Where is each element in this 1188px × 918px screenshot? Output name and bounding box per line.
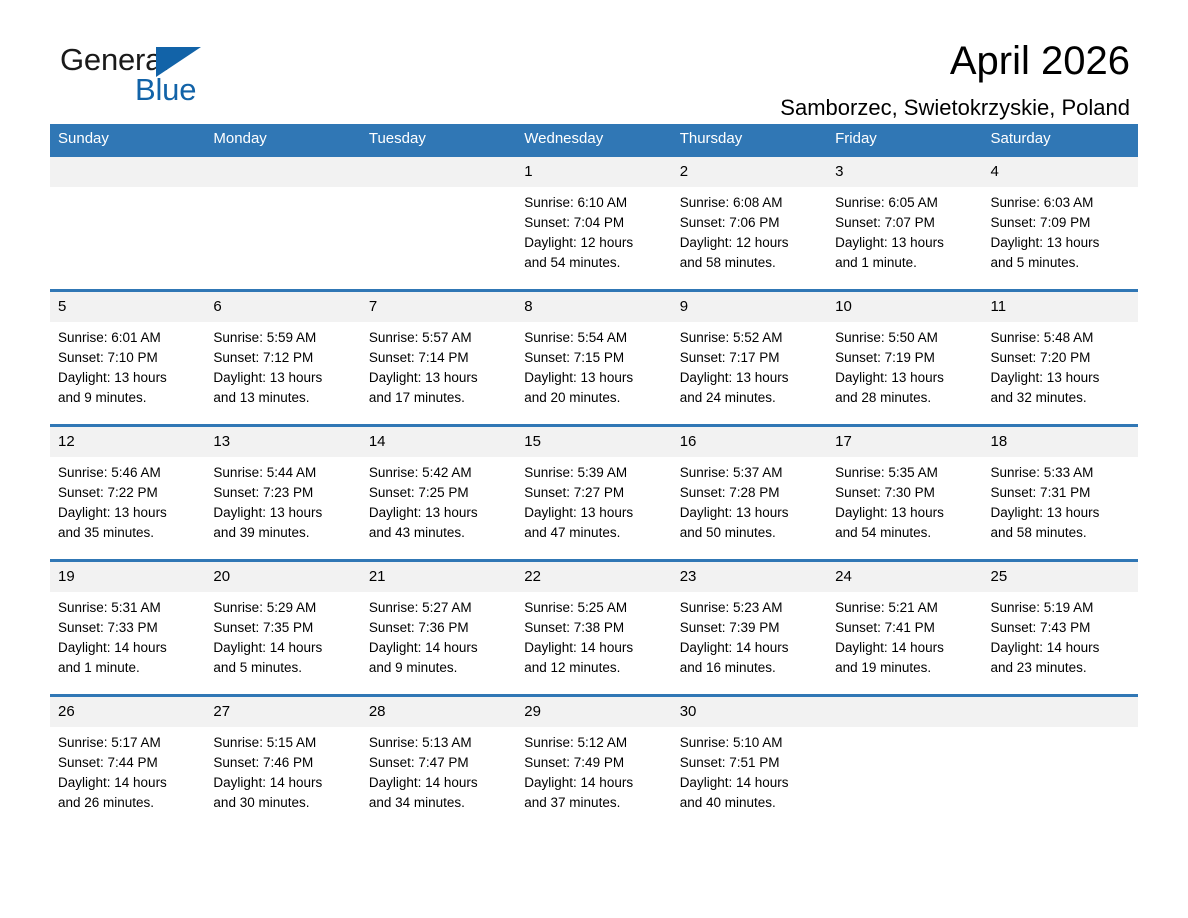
day-number: 24 (827, 562, 982, 592)
day-number: 7 (361, 292, 516, 322)
day-details: Sunrise: 5:59 AMSunset: 7:12 PMDaylight:… (205, 322, 360, 408)
day-number (361, 157, 516, 187)
day-number: 27 (205, 697, 360, 727)
daylight-text-line1: Daylight: 13 hours (58, 503, 197, 523)
calendar-day-cell[interactable]: 6Sunrise: 5:59 AMSunset: 7:12 PMDaylight… (205, 291, 360, 426)
daylight-text-line2: and 37 minutes. (524, 793, 663, 813)
day-number: 15 (516, 427, 671, 457)
sunrise-text: Sunrise: 6:01 AM (58, 328, 197, 348)
day-number: 20 (205, 562, 360, 592)
day-details: Sunrise: 5:27 AMSunset: 7:36 PMDaylight:… (361, 592, 516, 678)
daylight-text-line2: and 58 minutes. (680, 253, 819, 273)
day-number: 4 (983, 157, 1138, 187)
day-number: 5 (50, 292, 205, 322)
calendar-day-cell[interactable]: 28Sunrise: 5:13 AMSunset: 7:47 PMDayligh… (361, 696, 516, 824)
daylight-text-line2: and 5 minutes. (213, 658, 352, 678)
daylight-text-line2: and 39 minutes. (213, 523, 352, 543)
daylight-text-line1: Daylight: 13 hours (835, 233, 974, 253)
daylight-text-line2: and 16 minutes. (680, 658, 819, 678)
daylight-text-line1: Daylight: 14 hours (369, 773, 508, 793)
daylight-text-line1: Daylight: 13 hours (369, 503, 508, 523)
sunrise-text: Sunrise: 5:50 AM (835, 328, 974, 348)
page-header: General Blue April 2026 Samborzec, Swiet… (50, 0, 1138, 108)
daylight-text-line1: Daylight: 13 hours (213, 368, 352, 388)
day-details: Sunrise: 5:57 AMSunset: 7:14 PMDaylight:… (361, 322, 516, 408)
sunset-text: Sunset: 7:47 PM (369, 753, 508, 773)
sunset-text: Sunset: 7:10 PM (58, 348, 197, 368)
daylight-text-line1: Daylight: 13 hours (524, 368, 663, 388)
day-number: 14 (361, 427, 516, 457)
calendar-week-row: 26Sunrise: 5:17 AMSunset: 7:44 PMDayligh… (50, 696, 1138, 824)
daylight-text-line1: Daylight: 13 hours (680, 503, 819, 523)
daylight-text-line1: Daylight: 13 hours (524, 503, 663, 523)
day-details: Sunrise: 5:15 AMSunset: 7:46 PMDaylight:… (205, 727, 360, 813)
day-details: Sunrise: 6:10 AMSunset: 7:04 PMDaylight:… (516, 187, 671, 273)
logo-text-blue: Blue (135, 74, 196, 105)
daylight-text-line1: Daylight: 13 hours (369, 368, 508, 388)
sunrise-text: Sunrise: 5:21 AM (835, 598, 974, 618)
daylight-text-line2: and 28 minutes. (835, 388, 974, 408)
daylight-text-line1: Daylight: 14 hours (524, 773, 663, 793)
daylight-text-line1: Daylight: 13 hours (680, 368, 819, 388)
day-number: 11 (983, 292, 1138, 322)
sunset-text: Sunset: 7:36 PM (369, 618, 508, 638)
calendar-day-cell[interactable]: 30Sunrise: 5:10 AMSunset: 7:51 PMDayligh… (672, 696, 827, 824)
daylight-text-line1: Daylight: 13 hours (991, 233, 1130, 253)
sunrise-text: Sunrise: 5:12 AM (524, 733, 663, 753)
day-details: Sunrise: 5:39 AMSunset: 7:27 PMDaylight:… (516, 457, 671, 543)
day-details: Sunrise: 5:52 AMSunset: 7:17 PMDaylight:… (672, 322, 827, 408)
daylight-text-line2: and 5 minutes. (991, 253, 1130, 273)
sunrise-text: Sunrise: 5:37 AM (680, 463, 819, 483)
daylight-text-line2: and 50 minutes. (680, 523, 819, 543)
day-details: Sunrise: 5:29 AMSunset: 7:35 PMDaylight:… (205, 592, 360, 678)
sunset-text: Sunset: 7:35 PM (213, 618, 352, 638)
sunrise-text: Sunrise: 5:39 AM (524, 463, 663, 483)
sunrise-text: Sunrise: 5:17 AM (58, 733, 197, 753)
daylight-text-line1: Daylight: 14 hours (369, 638, 508, 658)
daylight-text-line2: and 20 minutes. (524, 388, 663, 408)
sunrise-text: Sunrise: 5:57 AM (369, 328, 508, 348)
daylight-text-line2: and 24 minutes. (680, 388, 819, 408)
day-number: 19 (50, 562, 205, 592)
calendar-day-cell[interactable]: 24Sunrise: 5:21 AMSunset: 7:41 PMDayligh… (827, 561, 982, 696)
sunset-text: Sunset: 7:30 PM (835, 483, 974, 503)
day-details: Sunrise: 5:37 AMSunset: 7:28 PMDaylight:… (672, 457, 827, 543)
weekday-header-friday: Friday (827, 124, 982, 156)
sunrise-sunset-calendar: Sunday Monday Tuesday Wednesday Thursday… (50, 124, 1138, 824)
calendar-day-cell[interactable]: 7Sunrise: 5:57 AMSunset: 7:14 PMDaylight… (361, 291, 516, 426)
daylight-text-line1: Daylight: 14 hours (680, 773, 819, 793)
day-number (983, 697, 1138, 727)
calendar-day-cell[interactable]: 16Sunrise: 5:37 AMSunset: 7:28 PMDayligh… (672, 426, 827, 561)
sunset-text: Sunset: 7:07 PM (835, 213, 974, 233)
calendar-day-cell[interactable]: 27Sunrise: 5:15 AMSunset: 7:46 PMDayligh… (205, 696, 360, 824)
sunset-text: Sunset: 7:14 PM (369, 348, 508, 368)
sunset-text: Sunset: 7:04 PM (524, 213, 663, 233)
calendar-day-cell[interactable]: 20Sunrise: 5:29 AMSunset: 7:35 PMDayligh… (205, 561, 360, 696)
weekday-header-row: Sunday Monday Tuesday Wednesday Thursday… (50, 124, 1138, 156)
sunset-text: Sunset: 7:27 PM (524, 483, 663, 503)
calendar-day-cell[interactable]: 15Sunrise: 5:39 AMSunset: 7:27 PMDayligh… (516, 426, 671, 561)
calendar-day-cell[interactable]: 19Sunrise: 5:31 AMSunset: 7:33 PMDayligh… (50, 561, 205, 696)
day-details: Sunrise: 5:48 AMSunset: 7:20 PMDaylight:… (983, 322, 1138, 408)
day-details: Sunrise: 6:01 AMSunset: 7:10 PMDaylight:… (50, 322, 205, 408)
day-number: 21 (361, 562, 516, 592)
sunrise-text: Sunrise: 5:59 AM (213, 328, 352, 348)
sunrise-text: Sunrise: 6:08 AM (680, 193, 819, 213)
day-details: Sunrise: 5:21 AMSunset: 7:41 PMDaylight:… (827, 592, 982, 678)
daylight-text-line1: Daylight: 14 hours (835, 638, 974, 658)
calendar-day-cell[interactable]: 29Sunrise: 5:12 AMSunset: 7:49 PMDayligh… (516, 696, 671, 824)
sunset-text: Sunset: 7:25 PM (369, 483, 508, 503)
day-number: 13 (205, 427, 360, 457)
day-number: 22 (516, 562, 671, 592)
calendar-day-cell[interactable]: 13Sunrise: 5:44 AMSunset: 7:23 PMDayligh… (205, 426, 360, 561)
sunrise-text: Sunrise: 5:35 AM (835, 463, 974, 483)
calendar-day-cell[interactable]: 12Sunrise: 5:46 AMSunset: 7:22 PMDayligh… (50, 426, 205, 561)
daylight-text-line2: and 43 minutes. (369, 523, 508, 543)
sunrise-text: Sunrise: 5:25 AM (524, 598, 663, 618)
daylight-text-line1: Daylight: 14 hours (213, 773, 352, 793)
daylight-text-line2: and 40 minutes. (680, 793, 819, 813)
day-number: 29 (516, 697, 671, 727)
calendar-day-cell[interactable]: 21Sunrise: 5:27 AMSunset: 7:36 PMDayligh… (361, 561, 516, 696)
daylight-text-line1: Daylight: 13 hours (991, 503, 1130, 523)
calendar-day-cell[interactable]: 26Sunrise: 5:17 AMSunset: 7:44 PMDayligh… (50, 696, 205, 824)
sunset-text: Sunset: 7:51 PM (680, 753, 819, 773)
daylight-text-line2: and 23 minutes. (991, 658, 1130, 678)
sunrise-text: Sunrise: 5:52 AM (680, 328, 819, 348)
daylight-text-line2: and 34 minutes. (369, 793, 508, 813)
day-details: Sunrise: 5:35 AMSunset: 7:30 PMDaylight:… (827, 457, 982, 543)
sunrise-text: Sunrise: 5:54 AM (524, 328, 663, 348)
sunset-text: Sunset: 7:49 PM (524, 753, 663, 773)
sunrise-text: Sunrise: 5:48 AM (991, 328, 1130, 348)
day-number (205, 157, 360, 187)
day-details: Sunrise: 6:03 AMSunset: 7:09 PMDaylight:… (983, 187, 1138, 273)
daylight-text-line2: and 54 minutes. (835, 523, 974, 543)
daylight-text-line1: Daylight: 13 hours (835, 503, 974, 523)
weekday-header-wednesday: Wednesday (516, 124, 671, 156)
day-number (50, 157, 205, 187)
day-details: Sunrise: 5:42 AMSunset: 7:25 PMDaylight:… (361, 457, 516, 543)
calendar-day-cell[interactable]: 1Sunrise: 6:10 AMSunset: 7:04 PMDaylight… (516, 156, 671, 291)
sunset-text: Sunset: 7:12 PM (213, 348, 352, 368)
day-number (827, 697, 982, 727)
day-number: 17 (827, 427, 982, 457)
daylight-text-line1: Daylight: 14 hours (213, 638, 352, 658)
day-details: Sunrise: 5:50 AMSunset: 7:19 PMDaylight:… (827, 322, 982, 408)
daylight-text-line1: Daylight: 14 hours (991, 638, 1130, 658)
day-details: Sunrise: 5:44 AMSunset: 7:23 PMDaylight:… (205, 457, 360, 543)
sunset-text: Sunset: 7:43 PM (991, 618, 1130, 638)
calendar-day-cell[interactable]: 18Sunrise: 5:33 AMSunset: 7:31 PMDayligh… (983, 426, 1138, 561)
weekday-header-sunday: Sunday (50, 124, 205, 156)
day-number: 23 (672, 562, 827, 592)
calendar-day-cell[interactable]: 4Sunrise: 6:03 AMSunset: 7:09 PMDaylight… (983, 156, 1138, 291)
daylight-text-line2: and 58 minutes. (991, 523, 1130, 543)
daylight-text-line1: Daylight: 13 hours (213, 503, 352, 523)
day-details: Sunrise: 5:19 AMSunset: 7:43 PMDaylight:… (983, 592, 1138, 678)
day-number: 10 (827, 292, 982, 322)
calendar-day-cell[interactable]: 9Sunrise: 5:52 AMSunset: 7:17 PMDaylight… (672, 291, 827, 426)
daylight-text-line1: Daylight: 14 hours (58, 773, 197, 793)
sunset-text: Sunset: 7:09 PM (991, 213, 1130, 233)
weekday-header-tuesday: Tuesday (361, 124, 516, 156)
daylight-text-line1: Daylight: 12 hours (524, 233, 663, 253)
calendar-day-cell[interactable]: 2Sunrise: 6:08 AMSunset: 7:06 PMDaylight… (672, 156, 827, 291)
daylight-text-line1: Daylight: 13 hours (991, 368, 1130, 388)
sunrise-text: Sunrise: 5:13 AM (369, 733, 508, 753)
daylight-text-line2: and 17 minutes. (369, 388, 508, 408)
calendar-day-cell-empty (983, 696, 1138, 824)
sunset-text: Sunset: 7:22 PM (58, 483, 197, 503)
daylight-text-line2: and 30 minutes. (213, 793, 352, 813)
day-details: Sunrise: 5:46 AMSunset: 7:22 PMDaylight:… (50, 457, 205, 543)
daylight-text-line2: and 32 minutes. (991, 388, 1130, 408)
sunrise-text: Sunrise: 5:42 AM (369, 463, 508, 483)
day-details: Sunrise: 5:31 AMSunset: 7:33 PMDaylight:… (50, 592, 205, 678)
calendar-week-row: 5Sunrise: 6:01 AMSunset: 7:10 PMDaylight… (50, 291, 1138, 426)
sunset-text: Sunset: 7:41 PM (835, 618, 974, 638)
sunset-text: Sunset: 7:33 PM (58, 618, 197, 638)
day-number: 28 (361, 697, 516, 727)
daylight-text-line1: Daylight: 14 hours (524, 638, 663, 658)
sunset-text: Sunset: 7:28 PM (680, 483, 819, 503)
day-number: 30 (672, 697, 827, 727)
day-number: 3 (827, 157, 982, 187)
calendar-day-cell[interactable]: 5Sunrise: 6:01 AMSunset: 7:10 PMDaylight… (50, 291, 205, 426)
sunrise-text: Sunrise: 5:23 AM (680, 598, 819, 618)
calendar-week-row: 12Sunrise: 5:46 AMSunset: 7:22 PMDayligh… (50, 426, 1138, 561)
daylight-text-line1: Daylight: 14 hours (680, 638, 819, 658)
day-details: Sunrise: 6:08 AMSunset: 7:06 PMDaylight:… (672, 187, 827, 273)
sunset-text: Sunset: 7:23 PM (213, 483, 352, 503)
day-details: Sunrise: 5:54 AMSunset: 7:15 PMDaylight:… (516, 322, 671, 408)
calendar-week-row: 19Sunrise: 5:31 AMSunset: 7:33 PMDayligh… (50, 561, 1138, 696)
sunset-text: Sunset: 7:46 PM (213, 753, 352, 773)
day-details: Sunrise: 5:12 AMSunset: 7:49 PMDaylight:… (516, 727, 671, 813)
sunrise-text: Sunrise: 5:46 AM (58, 463, 197, 483)
sunrise-text: Sunrise: 6:10 AM (524, 193, 663, 213)
calendar-day-cell-empty (827, 696, 982, 824)
day-number: 18 (983, 427, 1138, 457)
sunset-text: Sunset: 7:31 PM (991, 483, 1130, 503)
daylight-text-line1: Daylight: 14 hours (58, 638, 197, 658)
calendar-day-cell[interactable]: 25Sunrise: 5:19 AMSunset: 7:43 PMDayligh… (983, 561, 1138, 696)
calendar-day-cell-empty (205, 156, 360, 291)
sunrise-text: Sunrise: 6:05 AM (835, 193, 974, 213)
general-blue-logo: General Blue (60, 44, 250, 114)
sunrise-text: Sunrise: 5:15 AM (213, 733, 352, 753)
sunrise-text: Sunrise: 5:10 AM (680, 733, 819, 753)
sunrise-text: Sunrise: 6:03 AM (991, 193, 1130, 213)
day-number: 6 (205, 292, 360, 322)
calendar-body: 1Sunrise: 6:10 AMSunset: 7:04 PMDaylight… (50, 156, 1138, 824)
calendar-day-cell[interactable]: 22Sunrise: 5:25 AMSunset: 7:38 PMDayligh… (516, 561, 671, 696)
sunset-text: Sunset: 7:19 PM (835, 348, 974, 368)
sunrise-text: Sunrise: 5:19 AM (991, 598, 1130, 618)
daylight-text-line2: and 1 minute. (58, 658, 197, 678)
calendar-day-cell-empty (361, 156, 516, 291)
day-number: 12 (50, 427, 205, 457)
sunrise-text: Sunrise: 5:33 AM (991, 463, 1130, 483)
calendar-week-row: 1Sunrise: 6:10 AMSunset: 7:04 PMDaylight… (50, 156, 1138, 291)
daylight-text-line2: and 9 minutes. (58, 388, 197, 408)
weekday-header-thursday: Thursday (672, 124, 827, 156)
daylight-text-line2: and 12 minutes. (524, 658, 663, 678)
day-details: Sunrise: 5:23 AMSunset: 7:39 PMDaylight:… (672, 592, 827, 678)
calendar-day-cell[interactable]: 3Sunrise: 6:05 AMSunset: 7:07 PMDaylight… (827, 156, 982, 291)
day-number: 25 (983, 562, 1138, 592)
calendar-day-cell[interactable]: 8Sunrise: 5:54 AMSunset: 7:15 PMDaylight… (516, 291, 671, 426)
daylight-text-line2: and 19 minutes. (835, 658, 974, 678)
calendar-day-cell[interactable]: 14Sunrise: 5:42 AMSunset: 7:25 PMDayligh… (361, 426, 516, 561)
sunrise-text: Sunrise: 5:31 AM (58, 598, 197, 618)
daylight-text-line1: Daylight: 13 hours (58, 368, 197, 388)
sunrise-text: Sunrise: 5:44 AM (213, 463, 352, 483)
day-details: Sunrise: 5:25 AMSunset: 7:38 PMDaylight:… (516, 592, 671, 678)
daylight-text-line1: Daylight: 13 hours (835, 368, 974, 388)
daylight-text-line2: and 9 minutes. (369, 658, 508, 678)
daylight-text-line2: and 26 minutes. (58, 793, 197, 813)
weekday-header-saturday: Saturday (983, 124, 1138, 156)
day-details: Sunrise: 5:13 AMSunset: 7:47 PMDaylight:… (361, 727, 516, 813)
calendar-day-cell[interactable]: 11Sunrise: 5:48 AMSunset: 7:20 PMDayligh… (983, 291, 1138, 426)
day-details: Sunrise: 6:05 AMSunset: 7:07 PMDaylight:… (827, 187, 982, 273)
sunset-text: Sunset: 7:38 PM (524, 618, 663, 638)
day-number: 8 (516, 292, 671, 322)
sunrise-text: Sunrise: 5:29 AM (213, 598, 352, 618)
daylight-text-line1: Daylight: 12 hours (680, 233, 819, 253)
day-number: 1 (516, 157, 671, 187)
sunset-text: Sunset: 7:06 PM (680, 213, 819, 233)
calendar-day-cell-empty (50, 156, 205, 291)
day-number: 26 (50, 697, 205, 727)
day-details: Sunrise: 5:10 AMSunset: 7:51 PMDaylight:… (672, 727, 827, 813)
weekday-header-monday: Monday (205, 124, 360, 156)
calendar-day-cell[interactable]: 17Sunrise: 5:35 AMSunset: 7:30 PMDayligh… (827, 426, 982, 561)
day-number: 2 (672, 157, 827, 187)
daylight-text-line2: and 54 minutes. (524, 253, 663, 273)
calendar-day-cell[interactable]: 23Sunrise: 5:23 AMSunset: 7:39 PMDayligh… (672, 561, 827, 696)
calendar-page: General Blue April 2026 Samborzec, Swiet… (0, 0, 1188, 918)
day-number: 9 (672, 292, 827, 322)
daylight-text-line2: and 1 minute. (835, 253, 974, 273)
sunrise-text: Sunrise: 5:27 AM (369, 598, 508, 618)
sunset-text: Sunset: 7:44 PM (58, 753, 197, 773)
daylight-text-line2: and 47 minutes. (524, 523, 663, 543)
daylight-text-line2: and 35 minutes. (58, 523, 197, 543)
sunset-text: Sunset: 7:15 PM (524, 348, 663, 368)
sunset-text: Sunset: 7:20 PM (991, 348, 1130, 368)
day-number: 16 (672, 427, 827, 457)
sunset-text: Sunset: 7:39 PM (680, 618, 819, 638)
day-details: Sunrise: 5:33 AMSunset: 7:31 PMDaylight:… (983, 457, 1138, 543)
calendar-day-cell[interactable]: 10Sunrise: 5:50 AMSunset: 7:19 PMDayligh… (827, 291, 982, 426)
sunset-text: Sunset: 7:17 PM (680, 348, 819, 368)
day-details: Sunrise: 5:17 AMSunset: 7:44 PMDaylight:… (50, 727, 205, 813)
daylight-text-line2: and 13 minutes. (213, 388, 352, 408)
